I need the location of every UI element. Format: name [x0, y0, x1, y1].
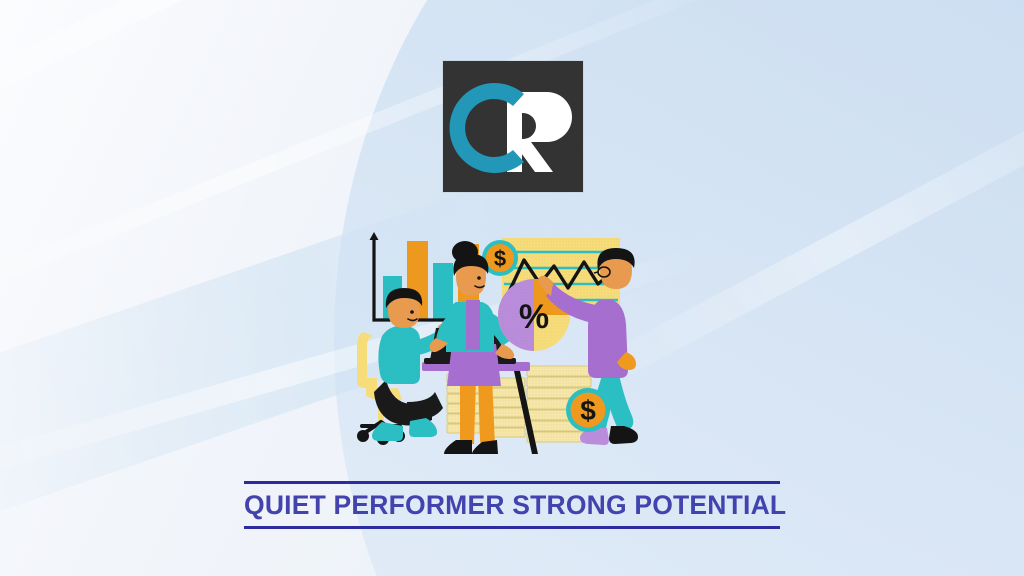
page-title: QUIET PERFORMER STRONG POTENTIAL	[244, 484, 780, 526]
cr-logo	[443, 61, 583, 192]
title-rule-bottom	[244, 526, 780, 529]
svg-text:%: %	[519, 298, 549, 336]
slide-canvas: $	[0, 0, 1024, 576]
business-analytics-illustration: $	[352, 226, 672, 464]
title-block: QUIET PERFORMER STRONG POTENTIAL	[244, 481, 780, 529]
svg-text:$: $	[580, 395, 596, 426]
dollar-coin-bottom: $	[566, 388, 610, 432]
svg-text:$: $	[494, 246, 506, 271]
